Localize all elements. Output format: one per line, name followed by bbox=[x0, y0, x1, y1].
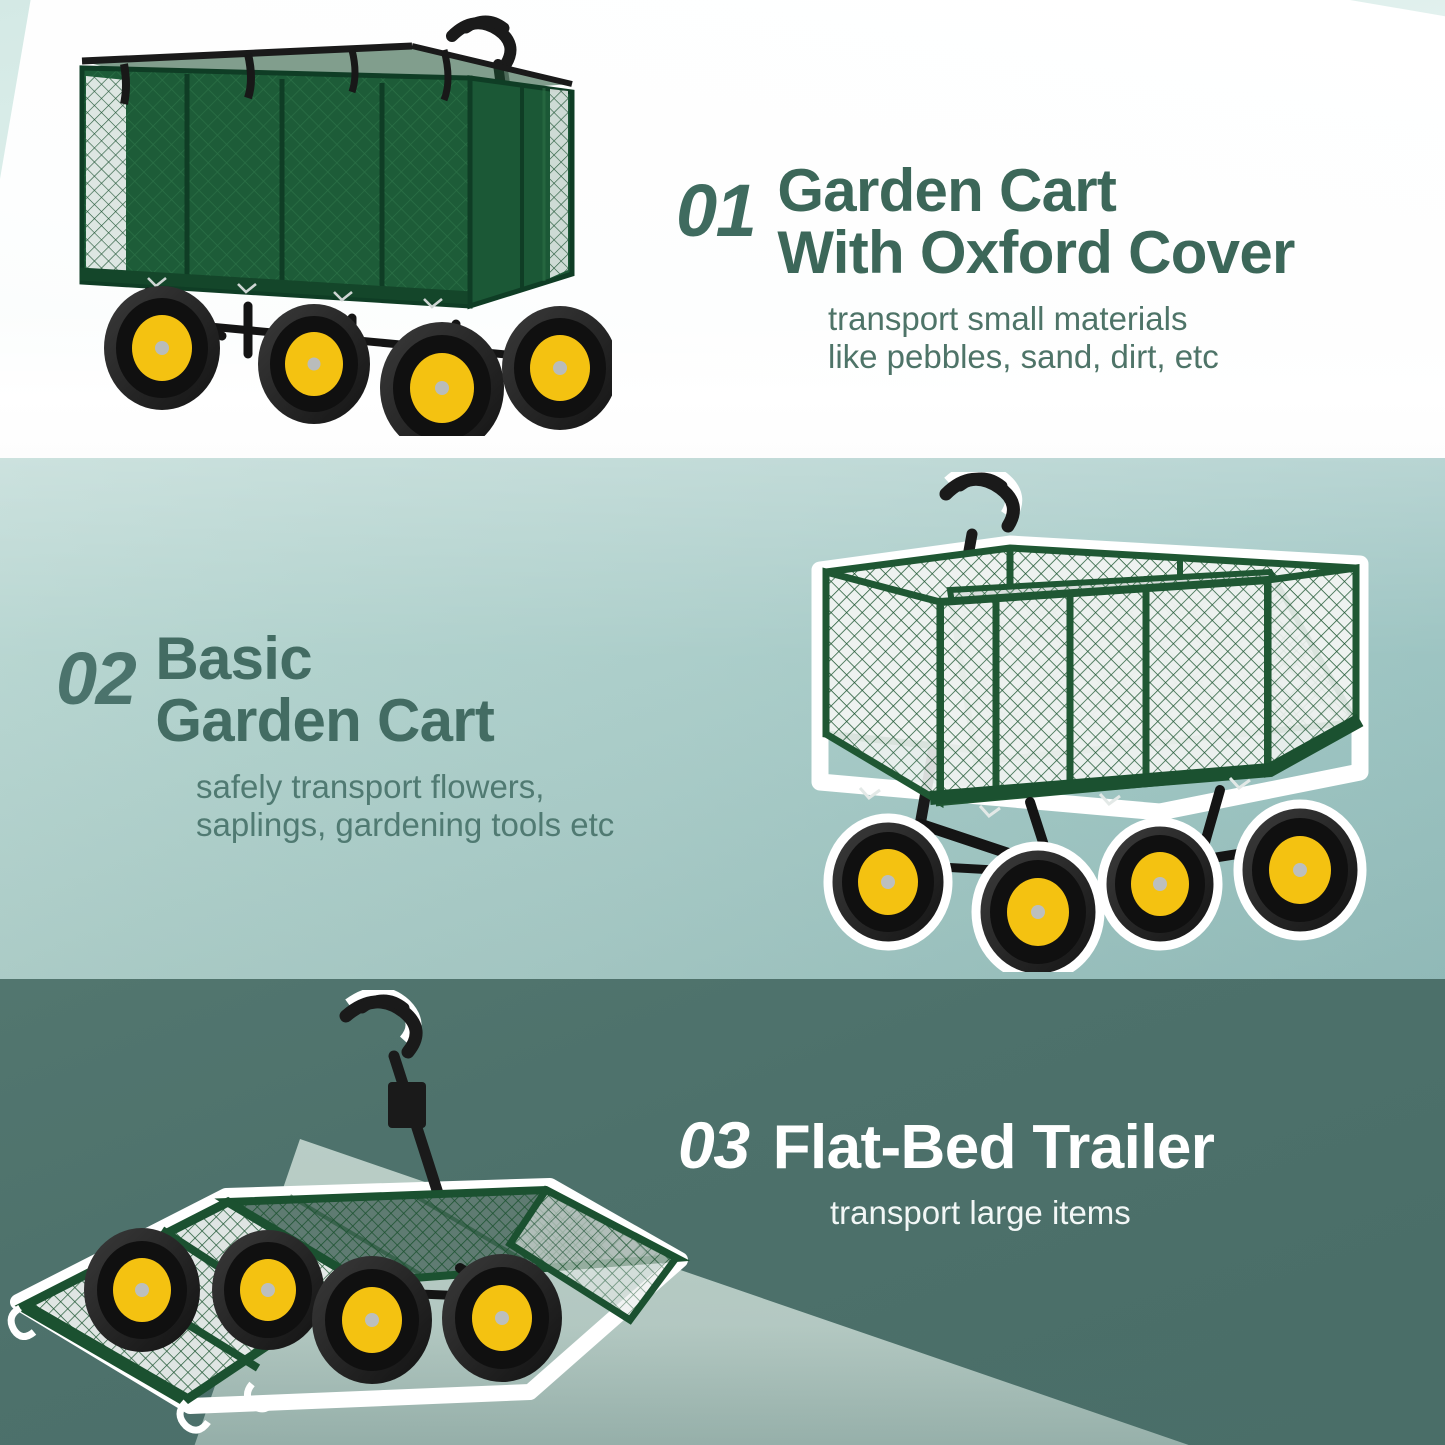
oxford-cover-body bbox=[80, 68, 472, 306]
section-01-title-line1: Garden Cart bbox=[777, 160, 1294, 222]
wheel bbox=[828, 818, 948, 946]
wheel bbox=[502, 306, 612, 430]
section-02-title-line2: Garden Cart bbox=[155, 690, 494, 752]
oxford-cover-end-panel bbox=[470, 78, 572, 306]
product-image-flat-bed-trailer bbox=[0, 990, 710, 1440]
section-03-subtitle-line1: transport large items bbox=[830, 1194, 1418, 1232]
section-03-title-line1: Flat-Bed Trailer bbox=[773, 1116, 1214, 1180]
wheel bbox=[976, 846, 1100, 972]
section-01-title: Garden Cart With Oxford Cover bbox=[777, 160, 1294, 284]
wheel bbox=[212, 1230, 324, 1350]
cart-left-panel bbox=[826, 572, 940, 802]
wheel bbox=[1102, 822, 1218, 946]
cart-wheels bbox=[828, 804, 1362, 972]
section-02-title: Basic Garden Cart bbox=[155, 628, 494, 752]
wheel bbox=[104, 286, 220, 410]
section-03-text: 03 Flat-Bed Trailer transport large item… bbox=[678, 1112, 1418, 1232]
wheel bbox=[1238, 804, 1362, 936]
section-02-text: 02 Basic Garden Cart safely transport fl… bbox=[56, 628, 776, 844]
section-01-subtitle: transport small materials like pebbles, … bbox=[828, 300, 1436, 377]
handle-bracket bbox=[388, 1082, 426, 1128]
section-02-title-line1: Basic bbox=[155, 628, 494, 690]
section-02-subtitle-line2: saplings, gardening tools etc bbox=[196, 806, 776, 844]
wheel bbox=[380, 322, 504, 436]
product-image-basic-garden-cart bbox=[800, 472, 1400, 972]
wheel bbox=[312, 1256, 432, 1384]
section-01-subtitle-line1: transport small materials bbox=[828, 300, 1436, 338]
section-01-title-line2: With Oxford Cover bbox=[777, 222, 1294, 284]
wheel bbox=[84, 1228, 200, 1352]
section-02-subtitle-line1: safely transport flowers, bbox=[196, 768, 776, 806]
cart-wheels bbox=[104, 286, 612, 436]
section-01-number: 01 bbox=[676, 160, 755, 248]
section-01-subtitle-line2: like pebbles, sand, dirt, etc bbox=[828, 338, 1436, 376]
product-image-garden-cart-with-oxford-cover bbox=[52, 6, 612, 436]
section-03-title: Flat-Bed Trailer bbox=[773, 1116, 1214, 1180]
wheel bbox=[258, 304, 370, 424]
section-02-subtitle: safely transport flowers, saplings, gard… bbox=[196, 768, 776, 845]
section-02-number: 02 bbox=[56, 628, 135, 716]
section-03-subtitle: transport large items bbox=[830, 1194, 1418, 1232]
product-infographic: 01 Garden Cart With Oxford Cover transpo… bbox=[0, 0, 1445, 1445]
section-03-number: 03 bbox=[678, 1112, 749, 1178]
section-01-text: 01 Garden Cart With Oxford Cover transpo… bbox=[676, 160, 1436, 376]
wheel bbox=[442, 1254, 562, 1382]
